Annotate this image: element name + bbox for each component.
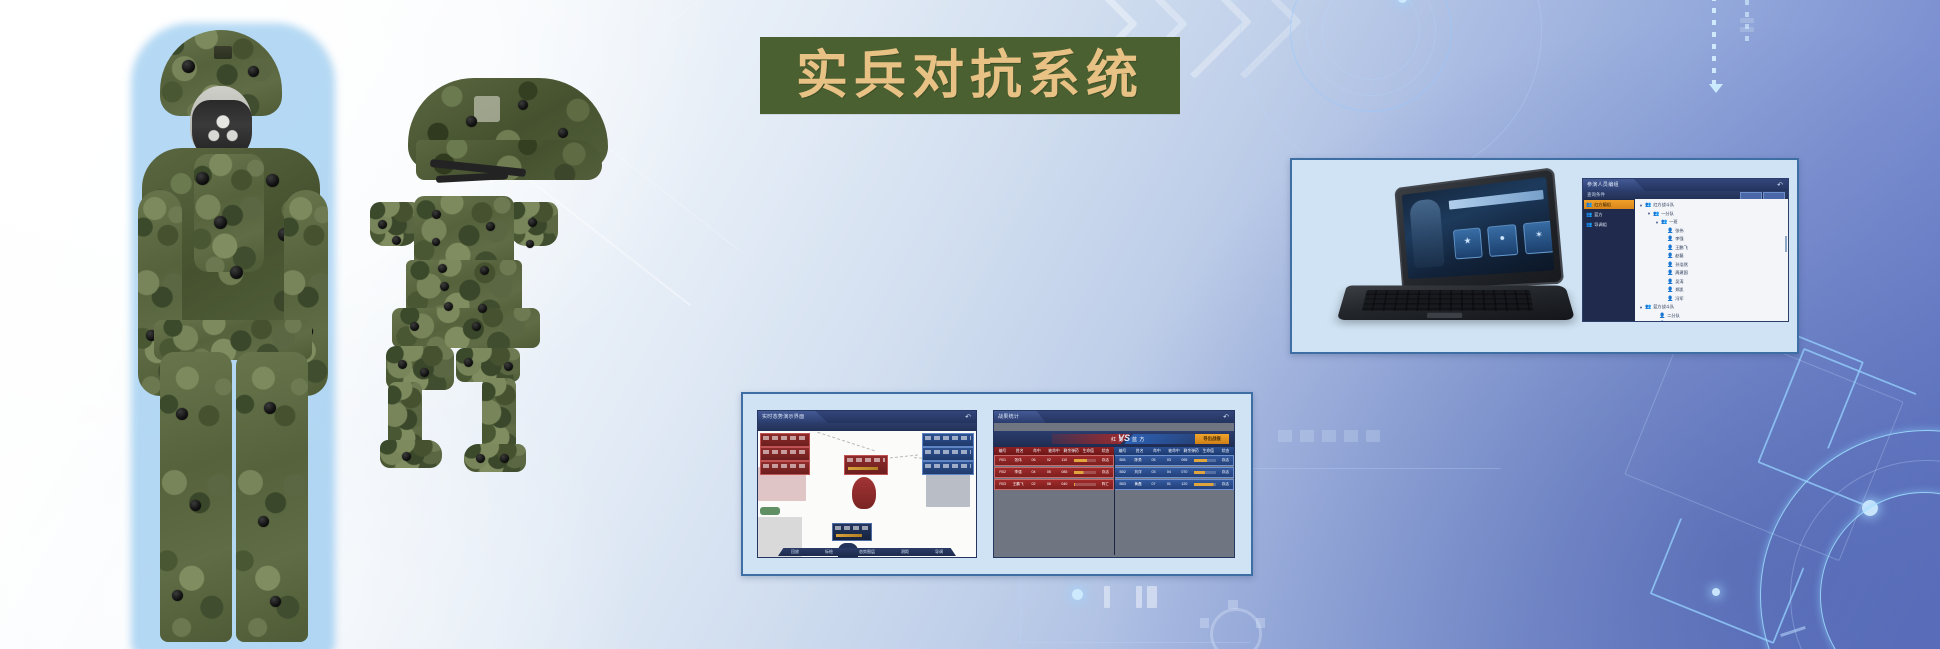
- sensor-dot: [392, 236, 401, 245]
- health-bar: [1194, 471, 1216, 474]
- tree-node[interactable]: 👤 张伟: [1635, 227, 1788, 236]
- stats-center-divider: [1114, 455, 1115, 555]
- cell: 03: [1161, 458, 1176, 462]
- app-scrollbar[interactable]: [1785, 236, 1787, 252]
- tree-node-label: 孙浩然: [1675, 262, 1688, 268]
- map-card-red[interactable]: [760, 447, 810, 461]
- map-tool-annotate[interactable]: 标绘: [825, 549, 833, 555]
- health-bar: [1074, 459, 1096, 462]
- group-list-item-blue[interactable]: 👥 蓝方: [1584, 210, 1634, 219]
- tree-node[interactable]: 👤 王鹏飞: [1635, 244, 1788, 253]
- chevron-down-icon: ▼: [1655, 220, 1659, 225]
- tree-node-label: 陈勇: [1667, 321, 1675, 322]
- circuit-trace-icon: [1020, 572, 1251, 643]
- group-icon: 👥: [1661, 219, 1667, 225]
- health-bar: [1194, 459, 1216, 462]
- tree-node-label: 王鹏飞: [1675, 245, 1688, 251]
- decor-chip: [1278, 430, 1292, 442]
- tree-node-label: 赵磊: [1675, 253, 1683, 259]
- laptop-illustration: ★ ● ✶: [1342, 178, 1572, 333]
- cell: 08: [1041, 482, 1056, 486]
- cell: 存活: [1098, 470, 1113, 475]
- sensor-dot: [420, 368, 429, 377]
- app-titlebar: 战果统计 ↶: [994, 411, 1234, 423]
- app-toolbar-search-label: 查询条件: [1587, 192, 1605, 198]
- card-row: [925, 436, 971, 440]
- shield-icon: ★: [1463, 235, 1472, 247]
- chevron-down-icon: ▼: [1647, 211, 1651, 216]
- panel-situation-and-stats: 实时态势演示界面 ↶: [741, 392, 1253, 576]
- laptop-screen: ★ ● ✶: [1402, 177, 1555, 279]
- laptop-touchpad: [1427, 313, 1462, 318]
- map-unit-tooltip-blue[interactable]: [832, 523, 872, 541]
- person-icon: 👤: [1667, 245, 1673, 251]
- person-icon: 👤: [1659, 313, 1665, 319]
- person-icon: 👤: [1667, 296, 1673, 302]
- card-row: [763, 464, 807, 468]
- cell: 04: [1026, 470, 1041, 474]
- tree-node-label: 冯军: [1675, 296, 1683, 302]
- cell: B03: [1115, 482, 1130, 486]
- cell: 张伟: [1010, 458, 1025, 463]
- mannequin-photo: [138, 30, 328, 649]
- sensor-dot: [230, 266, 243, 279]
- app-window-battle-stats: 战果统计 ↶ 红 方 蓝 方 VS 导出战报 编号 姓名 命中: [993, 410, 1235, 558]
- map-terrain-block: [760, 507, 780, 515]
- person-icon: 👤: [1667, 236, 1673, 242]
- tree-node-label: 郑凯: [1675, 287, 1683, 293]
- tree-node[interactable]: 👤 孙浩然: [1635, 261, 1788, 270]
- sensor-dot: [190, 500, 201, 511]
- app-titlebar: 实时态势演示界面 ↶: [758, 411, 976, 423]
- map-canvas[interactable]: 回放 标绘 态势图层 测距 导调: [758, 431, 976, 557]
- map-tool-playback[interactable]: 回放: [791, 549, 799, 555]
- sensor-dot: [176, 408, 188, 420]
- health-bar: [1074, 471, 1096, 474]
- chevron-down-icon: ▼: [1639, 203, 1643, 208]
- map-card-red[interactable]: [760, 433, 810, 447]
- laptop-screen-tile: ●: [1487, 224, 1518, 257]
- radar-ticks: [1770, 470, 1940, 649]
- chevron-down-icon: ▼: [1639, 305, 1643, 310]
- stats-blue-label: 蓝 方: [1132, 436, 1145, 443]
- tree-node-label: 一分队: [1661, 211, 1674, 217]
- tree-node[interactable]: ▼ 👥 一分队: [1635, 210, 1788, 219]
- sensor-dot: [526, 240, 534, 248]
- decor-chip: [1344, 430, 1358, 442]
- tree-node[interactable]: 👤 赵磊: [1635, 252, 1788, 261]
- cell: 阵亡: [1098, 482, 1113, 487]
- cell: 03: [1146, 470, 1161, 474]
- app-window-personnel-grouping: 参演人员编组 ↶ 查询条件 👥 红方编组 👥 蓝方: [1582, 178, 1789, 322]
- cell: B01: [1115, 458, 1130, 462]
- cell: 110: [1057, 458, 1072, 462]
- map-terrain-block: [926, 473, 970, 507]
- sensor-dot: [528, 218, 537, 227]
- radar-icon: ●: [1499, 232, 1505, 243]
- helmet-pad: [474, 96, 500, 122]
- sensor-dot: [472, 322, 481, 331]
- decor-chip: [1740, 27, 1754, 32]
- tree-node[interactable]: 👤 冯军: [1635, 295, 1788, 304]
- tree-node[interactable]: ▼ 👥 蓝方战斗队: [1635, 303, 1788, 312]
- cell: 095: [1177, 458, 1192, 462]
- cell: 07: [1146, 482, 1161, 486]
- cell: R03: [995, 482, 1010, 486]
- dotted-drop-line-icon: [1712, 0, 1716, 86]
- gear-icon: [1256, 618, 1265, 628]
- helmet-patch: [214, 46, 232, 59]
- stats-red-row[interactable]: R02 李强 04 05 085 存活: [994, 467, 1114, 478]
- sensor-dot: [440, 282, 449, 291]
- health-bar: [1074, 483, 1096, 486]
- tree-node[interactable]: 👤 陈勇: [1635, 320, 1788, 322]
- sensor-dot: [486, 222, 495, 231]
- card-row: [763, 436, 807, 440]
- cell: 黄磊: [1130, 482, 1145, 487]
- map-road: [817, 432, 874, 451]
- page-title-banner: 实兵对抗系统: [760, 37, 1180, 114]
- page-title: 实兵对抗系统: [796, 50, 1144, 102]
- app-tab-label: 实时态势演示界面: [762, 413, 804, 420]
- back-arrow-icon[interactable]: ↶: [1777, 181, 1783, 189]
- tree-node-label: 周建国: [1675, 270, 1688, 276]
- sensor-dot: [264, 402, 276, 414]
- sensor-dot: [182, 60, 195, 73]
- app-tab-label: 战果统计: [998, 413, 1019, 420]
- group-icon: 👥: [1586, 222, 1592, 228]
- decor-chip: [1300, 430, 1314, 442]
- sensor-dot: [464, 358, 473, 367]
- export-report-button[interactable]: 导出战报: [1195, 434, 1229, 444]
- stats-red-row[interactable]: R03 王鹏飞 02 08 040 阵亡: [994, 479, 1114, 490]
- helmet-product-photo: [408, 78, 628, 196]
- app-body: 👥 红方编组 👥 蓝方 👥 导调组 ▼ 👥: [1583, 199, 1788, 321]
- decor-chip: [1366, 430, 1380, 442]
- group-icon: 👥: [1586, 202, 1592, 208]
- map-card-red[interactable]: [760, 461, 810, 475]
- map-tool-measure[interactable]: 测距: [901, 549, 909, 555]
- sensor-dot: [500, 454, 509, 463]
- stats-vs-label: VS: [1118, 433, 1130, 443]
- cell: 085: [1057, 470, 1072, 474]
- map-card-blue[interactable]: [922, 461, 974, 475]
- app-group-list: 👥 红方编组 👥 蓝方 👥 导调组: [1583, 199, 1635, 321]
- sensor-dot: [466, 116, 477, 127]
- laptop-keyboard: [1362, 290, 1534, 311]
- map-unit-red[interactable]: [852, 477, 876, 509]
- card-row: [925, 464, 971, 468]
- tree-node[interactable]: 👤 二分队: [1635, 312, 1788, 321]
- cell: 存活: [1098, 458, 1113, 463]
- sensor-dot: [196, 172, 209, 185]
- map-unit-tooltip-red[interactable]: [844, 455, 888, 475]
- tree-node[interactable]: ▼ 👥 一班: [1635, 218, 1788, 227]
- cell: 存活: [1218, 470, 1233, 475]
- app-subbar: [758, 423, 976, 431]
- person-icon: 👤: [1667, 262, 1673, 268]
- map-card-blue[interactable]: [922, 447, 974, 461]
- cell: 02: [1041, 458, 1056, 462]
- decor-chip: [1322, 430, 1336, 442]
- harness-foot-right: [464, 444, 526, 472]
- sensor-dot: [270, 596, 281, 607]
- glow-node: [1712, 588, 1720, 596]
- tree-node[interactable]: 👤 郑凯: [1635, 286, 1788, 295]
- cell: 存活: [1218, 482, 1233, 487]
- cell: 040: [1057, 482, 1072, 486]
- poster-canvas: 实兵对抗系统: [0, 0, 1940, 649]
- cell: 存活: [1218, 458, 1233, 463]
- group-icon: 👥: [1653, 211, 1659, 217]
- sensor-dot: [410, 322, 419, 331]
- person-icon: 👤: [1667, 253, 1673, 259]
- sensor-dot: [258, 516, 269, 527]
- person-icon: 👤: [1667, 287, 1673, 293]
- cell: 120: [1177, 482, 1192, 486]
- group-icon: 👥: [1645, 304, 1651, 310]
- export-report-label: 导出战报: [1203, 436, 1221, 442]
- tree-node[interactable]: ▼ 👥 红方战斗队: [1635, 201, 1788, 210]
- cell: R02: [995, 470, 1010, 474]
- card-row: [835, 526, 869, 530]
- tree-node-label: 二分队: [1667, 313, 1680, 319]
- sensor-dot: [478, 304, 487, 313]
- map-tool-control[interactable]: 导调: [935, 549, 943, 555]
- stats-blue-row[interactable]: B03 黄磊 07 01 120 存活: [1114, 479, 1234, 490]
- map-card-blue[interactable]: [922, 433, 974, 447]
- map-toolbar[interactable]: 回放 标绘 态势图层 测距 导调: [778, 548, 956, 556]
- app-personnel-tree[interactable]: ▼ 👥 红方战斗队 ▼ 👥 一分队 ▼ 👥 一班: [1635, 199, 1788, 321]
- cell: 01: [1161, 482, 1176, 486]
- cell: 05: [1146, 458, 1161, 462]
- tree-node-label: 一班: [1669, 219, 1677, 225]
- sensor-dot: [432, 238, 440, 246]
- laptop-screen-tile: ★: [1453, 227, 1483, 259]
- laptop-lid: ★ ● ✶: [1394, 167, 1564, 292]
- tree-node[interactable]: 👤 李强: [1635, 235, 1788, 244]
- circuit-trace-icon: [1250, 468, 1501, 529]
- card-row: [847, 458, 885, 462]
- app-tab-label: 参演人员编组: [1587, 181, 1619, 188]
- person-icon: 👤: [1667, 279, 1673, 285]
- sensor-dot: [504, 362, 513, 371]
- group-list-item-label: 蓝方: [1594, 212, 1602, 218]
- app-window-situation-map: 实时态势演示界面 ↶: [757, 410, 977, 558]
- sensor-dot: [378, 220, 387, 229]
- group-icon: 👥: [1586, 212, 1592, 218]
- cell: 04: [1161, 470, 1176, 474]
- harness-shin-right: [482, 378, 516, 454]
- person-icon: 👤: [1667, 270, 1673, 276]
- dotted-drop-line-icon: [1709, 84, 1723, 93]
- sensor-dot: [444, 302, 453, 311]
- map-tool-layers[interactable]: 态势图层: [859, 549, 875, 555]
- stats-blue-row[interactable]: B01 陈勇 05 03 095 存活: [1114, 455, 1234, 466]
- laptop-screen-title: [1449, 190, 1544, 210]
- group-list-item-red[interactable]: 👥 红方编组: [1584, 200, 1634, 209]
- sensor-dot: [438, 264, 447, 273]
- mannequin-leg-left: [160, 352, 232, 642]
- sensor-dot: [432, 210, 441, 219]
- sensor-dot: [518, 100, 528, 110]
- tree-node-label: 李强: [1675, 236, 1683, 242]
- cell: 06: [1026, 458, 1041, 462]
- gear-icon: ✶: [1535, 229, 1544, 241]
- card-row: [763, 450, 807, 454]
- stats-vs-banner: 红 方 蓝 方 VS 导出战报: [994, 431, 1234, 447]
- cell: 王鹏飞: [1010, 482, 1025, 487]
- decor-chip: [1740, 18, 1754, 23]
- panel-command-terminal: ★ ● ✶ 参演人员编组 ↶ 查询条件: [1290, 158, 1799, 354]
- sensor-dot: [402, 452, 411, 461]
- cell: B02: [1115, 470, 1130, 474]
- cell: R01: [995, 458, 1010, 462]
- sensor-dot: [266, 174, 279, 187]
- sensor-dot: [172, 590, 183, 601]
- group-list-item-label: 导调组: [1594, 222, 1607, 228]
- card-row: [925, 450, 971, 454]
- tree-node[interactable]: 👤 吴涛: [1635, 278, 1788, 287]
- laptop-screen-tile: ✶: [1523, 220, 1554, 254]
- app-toolbar: 查询条件: [1583, 191, 1788, 199]
- tree-node-label: 蓝方战斗队: [1653, 304, 1674, 310]
- app-titlebar: 参演人员编组 ↶: [1583, 179, 1788, 191]
- harness-foot-left: [380, 440, 442, 468]
- group-icon: 👥: [1645, 202, 1651, 208]
- group-list-item-label: 红方编组: [1594, 202, 1611, 208]
- tree-node-label: 吴涛: [1675, 279, 1683, 285]
- sensor-dot: [480, 266, 489, 275]
- harness-product-photo: [370, 196, 560, 480]
- cell: 刘洋: [1130, 470, 1145, 475]
- health-bar: [1194, 483, 1216, 486]
- sensor-dot: [248, 66, 259, 77]
- sensor-dot: [398, 360, 407, 369]
- cell: 070: [1177, 470, 1192, 474]
- stats-red-row[interactable]: R01 张伟 06 02 110 存活: [994, 455, 1114, 466]
- person-icon: 👤: [1659, 321, 1665, 322]
- sensor-dot: [476, 454, 485, 463]
- sensor-dot: [558, 128, 568, 138]
- back-arrow-icon[interactable]: ↶: [965, 413, 971, 421]
- laptop-screen-soldier-art: [1409, 198, 1445, 268]
- group-list-item-control[interactable]: 👥 导调组: [1584, 220, 1634, 229]
- cell: 陈勇: [1130, 458, 1145, 463]
- back-arrow-icon[interactable]: ↶: [1223, 413, 1229, 421]
- cell: 05: [1041, 470, 1056, 474]
- stats-blue-row[interactable]: B02 刘洋 03 04 070 存活: [1114, 467, 1234, 478]
- cell: 李强: [1010, 470, 1025, 475]
- health-bar: [848, 467, 878, 470]
- cell: 02: [1026, 482, 1041, 486]
- health-bar: [836, 534, 862, 537]
- tree-node-label: 红方战斗队: [1653, 202, 1674, 208]
- laptop-base: [1337, 285, 1576, 320]
- sensor-dot: [214, 216, 227, 229]
- tree-node-label: 张伟: [1675, 228, 1683, 234]
- person-icon: 👤: [1667, 228, 1673, 234]
- tree-node[interactable]: 👤 周建国: [1635, 269, 1788, 278]
